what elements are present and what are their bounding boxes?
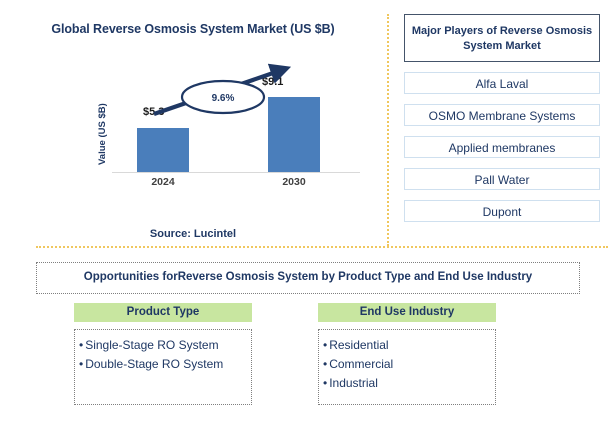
player-row: Applied membranes bbox=[404, 136, 600, 158]
cagr-value-label: 9.6% bbox=[196, 93, 250, 104]
vertical-divider bbox=[387, 14, 389, 246]
list-item-label: Single-Stage RO System bbox=[85, 338, 218, 352]
list-item: •Single-Stage RO System bbox=[79, 336, 247, 355]
opportunities-banner: Opportunities forReverse Osmosis System … bbox=[36, 262, 580, 294]
chart-title: Global Reverse Osmosis System Market (US… bbox=[0, 22, 386, 36]
horizontal-divider bbox=[36, 246, 608, 248]
bullet-icon: • bbox=[79, 338, 83, 352]
list-item: •Residential bbox=[323, 336, 491, 355]
list-item: •Commercial bbox=[323, 355, 491, 374]
player-row: OSMO Membrane Systems bbox=[404, 104, 600, 126]
source-attribution: Source: Lucintel bbox=[0, 228, 386, 240]
end-use-industry-column: End Use Industry •Residential •Commercia… bbox=[318, 303, 496, 405]
end-use-industry-list: •Residential •Commercial •Industrial bbox=[318, 329, 496, 405]
product-type-header: Product Type bbox=[74, 303, 252, 322]
list-item-label: Double-Stage RO System bbox=[85, 357, 223, 371]
market-chart-panel: Global Reverse Osmosis System Market (US… bbox=[0, 0, 386, 246]
major-players-panel: Major Players of Reverse Osmosis System … bbox=[404, 14, 600, 222]
product-type-column: Product Type •Single-Stage RO System •Do… bbox=[74, 303, 252, 405]
player-row: Alfa Laval bbox=[404, 72, 600, 94]
player-row: Pall Water bbox=[404, 168, 600, 190]
bar-2024 bbox=[137, 128, 189, 172]
y-axis-label: Value (US $B) bbox=[96, 92, 110, 176]
category-label-2024: 2024 bbox=[137, 176, 189, 188]
list-item: •Double-Stage RO System bbox=[79, 355, 247, 374]
category-label-2030: 2030 bbox=[268, 176, 320, 188]
bullet-icon: • bbox=[323, 376, 327, 390]
end-use-industry-header: End Use Industry bbox=[318, 303, 496, 322]
player-row: Dupont bbox=[404, 200, 600, 222]
x-axis-line bbox=[112, 172, 360, 173]
product-type-list: •Single-Stage RO System •Double-Stage RO… bbox=[74, 329, 252, 405]
list-item: •Industrial bbox=[323, 374, 491, 393]
bullet-icon: • bbox=[323, 357, 327, 371]
list-item-label: Industrial bbox=[329, 376, 378, 390]
list-item-label: Residential bbox=[329, 338, 388, 352]
bullet-icon: • bbox=[323, 338, 327, 352]
infographic-root: Global Reverse Osmosis System Market (US… bbox=[0, 0, 616, 430]
major-players-header: Major Players of Reverse Osmosis System … bbox=[404, 14, 600, 62]
list-item-label: Commercial bbox=[329, 357, 393, 371]
bullet-icon: • bbox=[79, 357, 83, 371]
